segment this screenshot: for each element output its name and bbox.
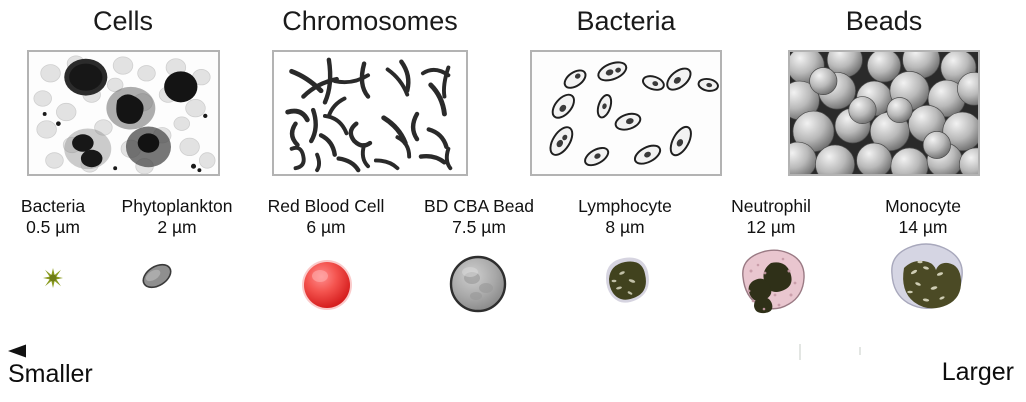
monocyte-cell: [882, 238, 970, 326]
specimen-name: Neutrophil: [706, 196, 836, 217]
phytoplankton-ellipse: [137, 258, 177, 294]
specimen-name: Red Blood Cell: [250, 196, 402, 217]
specimen-size: 0.5 µm: [0, 217, 106, 238]
cba-bead-sphere: [446, 252, 510, 316]
lymphocyte-cell: [592, 248, 660, 316]
specimen-size: 2 µm: [105, 217, 249, 238]
neutrophil-cell: [731, 243, 811, 323]
size-axis-arrow: [0, 338, 1026, 364]
panel-bacteria-micrograph: [530, 50, 722, 176]
axis-label-larger: Larger: [942, 358, 1014, 386]
bacteria-micrograph: [532, 52, 720, 174]
panel-chromosomes-micrograph: [272, 50, 468, 176]
specimen-size: 7.5 µm: [405, 217, 553, 238]
specimen-size: 8 µm: [559, 217, 691, 238]
chromosome-spread-micrograph: [274, 52, 466, 174]
panel-cells-micrograph: [27, 50, 220, 176]
category-title-bacteria: Bacteria: [526, 6, 726, 36]
red-blood-cell-sphere: [298, 256, 356, 314]
specimen-label-bd-cba-bead: BD CBA Bead 7.5 µm: [405, 196, 553, 238]
category-title-chromosomes: Chromosomes: [270, 6, 470, 36]
bacterium-star-shape: [42, 267, 64, 289]
specimen-name: Monocyte: [858, 196, 988, 217]
specimen-name: Lymphocyte: [559, 196, 691, 217]
polystyrene-beads-sem: [790, 52, 978, 174]
specimen-label-phytoplankton: Phytoplankton 2 µm: [105, 196, 249, 238]
panel-beads-sem: [788, 50, 980, 176]
size-comparison-figure: Cells Chromosomes Bacteria Beads: [0, 0, 1026, 402]
specimen-name: Phytoplankton: [105, 196, 249, 217]
specimen-label-neutrophil: Neutrophil 12 µm: [706, 196, 836, 238]
specimen-name: Bacteria: [0, 196, 106, 217]
specimen-label-red-blood-cell: Red Blood Cell 6 µm: [250, 196, 402, 238]
specimen-label-bacteria: Bacteria 0.5 µm: [0, 196, 106, 238]
specimen-size: 6 µm: [250, 217, 402, 238]
category-title-beads: Beads: [784, 6, 984, 36]
specimen-name: BD CBA Bead: [405, 196, 553, 217]
axis-label-smaller: Smaller: [8, 360, 93, 388]
specimen-size: 14 µm: [858, 217, 988, 238]
blood-smear-micrograph: [29, 52, 218, 174]
specimen-size: 12 µm: [706, 217, 836, 238]
category-title-cells: Cells: [23, 6, 223, 36]
specimen-label-monocyte: Monocyte 14 µm: [858, 196, 988, 238]
specimen-label-lymphocyte: Lymphocyte 8 µm: [559, 196, 691, 238]
